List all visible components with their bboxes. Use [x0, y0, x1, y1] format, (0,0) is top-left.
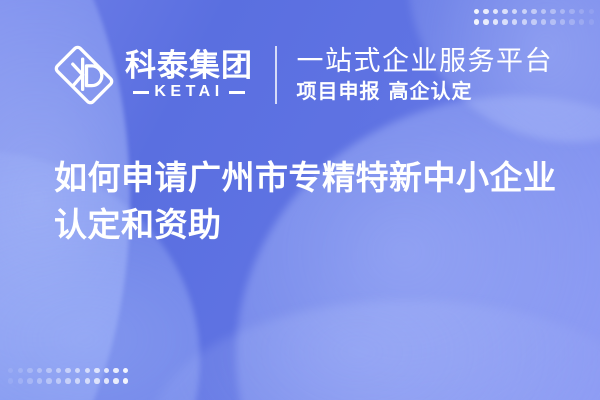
wordmark: 科泰集团 KETAI	[125, 50, 253, 101]
decorative-dot	[65, 378, 70, 383]
brand-lockup: 科泰集团 KETAI 一站式企业服务平台 项目申报 高企认定	[53, 44, 553, 106]
decorative-dot	[46, 378, 51, 383]
slogan-block: 一站式企业服务平台 项目申报 高企认定	[297, 46, 554, 105]
decorative-dot	[18, 368, 23, 373]
slogan-sub: 项目申报 高企认定	[297, 79, 554, 104]
decorative-dot	[56, 378, 61, 383]
company-name-cn: 科泰集团	[125, 50, 253, 83]
promo-banner: 科泰集团 KETAI 一站式企业服务平台 项目申报 高企认定 如何申请广州市专精…	[0, 0, 600, 400]
decorative-dot	[37, 368, 42, 373]
header-divider	[275, 46, 277, 104]
wordmark-rule-left	[133, 91, 149, 94]
decorative-dot	[123, 368, 128, 373]
decorative-dot	[18, 378, 23, 383]
decorative-dot	[104, 378, 109, 383]
dot-row	[8, 378, 128, 383]
slogan-main: 一站式企业服务平台	[297, 46, 554, 78]
decorative-dot	[65, 368, 70, 373]
banner-header: 科泰集团 KETAI 一站式企业服务平台 项目申报 高企认定	[0, 0, 600, 150]
decorative-dot	[85, 378, 90, 383]
decorative-dot	[85, 368, 90, 373]
decorative-dot	[94, 378, 99, 383]
decorative-dot	[94, 368, 99, 373]
decorative-dot	[75, 378, 80, 383]
decorative-dot	[27, 378, 32, 383]
decorative-dot	[113, 378, 118, 383]
dot-row	[8, 368, 128, 373]
decorative-dot	[8, 368, 13, 373]
dot-grid-bottom-left	[8, 368, 128, 384]
headline-line-2: 认定和资助	[54, 202, 554, 249]
decorative-dot	[123, 378, 128, 383]
decorative-dot	[56, 368, 61, 373]
headline-line-1: 如何申请广州市专精特新中小企业	[54, 155, 554, 202]
company-name-en-row: KETAI	[133, 84, 244, 100]
decorative-dot	[75, 368, 80, 373]
decorative-dot	[104, 368, 109, 373]
decorative-dot	[113, 368, 118, 373]
ketai-logo-icon	[53, 44, 115, 106]
decorative-dot	[8, 378, 13, 383]
decorative-dot	[27, 368, 32, 373]
background-blob-bottom-sheen	[150, 300, 600, 400]
decorative-dot	[46, 368, 51, 373]
decorative-dot	[37, 378, 42, 383]
wordmark-rule-right	[229, 91, 245, 94]
company-name-en: KETAI	[154, 84, 223, 100]
headline-block: 如何申请广州市专精特新中小企业 认定和资助	[54, 155, 554, 249]
